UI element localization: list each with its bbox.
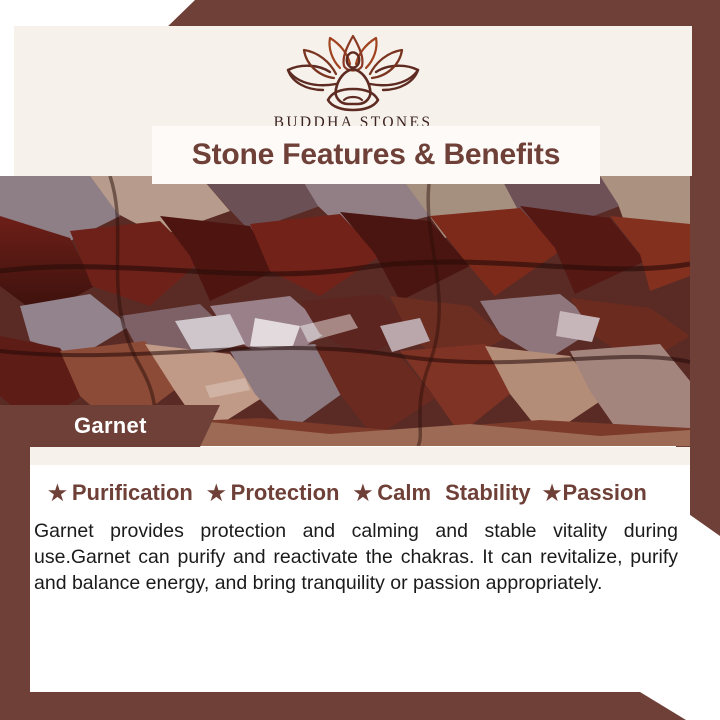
left-decorative-strip — [0, 405, 30, 720]
benefit-item-calm: ★ Calm — [353, 480, 431, 506]
panel-top-strip — [30, 447, 690, 465]
star-icon: ★ — [207, 483, 226, 504]
page-title: Stone Features & Benefits — [192, 138, 560, 172]
benefit-item-stability: Stability — [445, 480, 531, 506]
benefit-label: Protection — [231, 480, 340, 506]
infographic-card: BUDDHA STONES Stone Features & Benefits — [0, 0, 720, 720]
stone-name: Garnet — [74, 413, 147, 439]
benefit-label: Purification — [72, 480, 193, 506]
star-icon: ★ — [48, 483, 67, 504]
benefit-item-protection: ★ Protection — [207, 480, 340, 506]
star-icon: ★ — [543, 483, 562, 504]
benefit-item-purification: ★ Purification — [48, 480, 193, 506]
stone-description: Garnet provides protection and calming a… — [34, 518, 678, 596]
benefits-list: ★ Purification ★ Protection ★ Calm Stabi… — [48, 480, 678, 506]
lotus-meditation-icon — [278, 34, 428, 112]
title-card: Stone Features & Benefits — [152, 126, 600, 184]
benefit-label: Stability — [445, 480, 531, 506]
stone-name-banner: Garnet — [0, 405, 220, 447]
benefit-label: Calm — [377, 480, 431, 506]
star-icon: ★ — [353, 483, 372, 504]
brand-logo: BUDDHA STONES — [14, 34, 692, 132]
bottom-decorative-band — [0, 692, 720, 720]
benefit-item-passion: ★ Passion — [543, 480, 647, 506]
benefit-label: Passion — [563, 480, 647, 506]
